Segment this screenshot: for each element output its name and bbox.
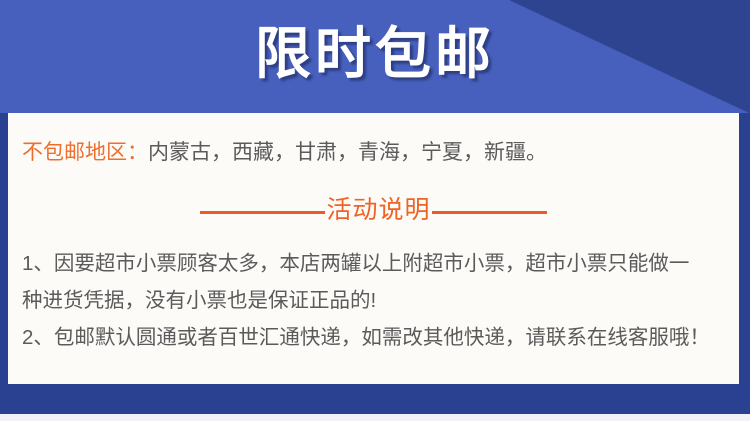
divider-rule-right bbox=[432, 211, 547, 214]
content-panel: 不包邮地区：内蒙古，西藏，甘肃，青海，宁夏，新疆。 活动说明 1、因要超市小票顾… bbox=[8, 113, 739, 384]
promo-banner-card: 限时包邮 不包邮地区：内蒙古，西藏，甘肃，青海，宁夏，新疆。 活动说明 1、因要… bbox=[0, 0, 750, 421]
divider-title: 活动说明 bbox=[325, 194, 431, 226]
excluded-regions-notice: 不包邮地区：内蒙古，西藏，甘肃，青海，宁夏，新疆。 bbox=[22, 138, 547, 168]
note-line: 1、因要超市小票顾客太多，本店两罐以上附超市小票，超市小票只能做一 bbox=[22, 245, 722, 282]
footer-bottom-strip bbox=[0, 414, 750, 421]
footer-band bbox=[0, 384, 750, 414]
divider-rule-left bbox=[200, 211, 325, 214]
activity-notes: 1、因要超市小票顾客太多，本店两罐以上附超市小票，超市小票只能做一 种进货凭据，… bbox=[22, 245, 722, 356]
section-divider: 活动说明 bbox=[8, 192, 739, 232]
note-line: 种进货凭据，没有小票也是保证正品的! bbox=[22, 282, 722, 319]
note-line: 2、包邮默认圆通或者百世汇通快递，如需改其他快递，请联系在线客服哦！ bbox=[22, 319, 722, 356]
excluded-regions-label: 不包邮地区： bbox=[22, 141, 148, 164]
banner-header: 限时包邮 bbox=[0, 0, 750, 113]
banner-title: 限时包邮 bbox=[0, 10, 750, 98]
excluded-regions-value: 内蒙古，西藏，甘肃，青海，宁夏，新疆。 bbox=[148, 141, 547, 164]
